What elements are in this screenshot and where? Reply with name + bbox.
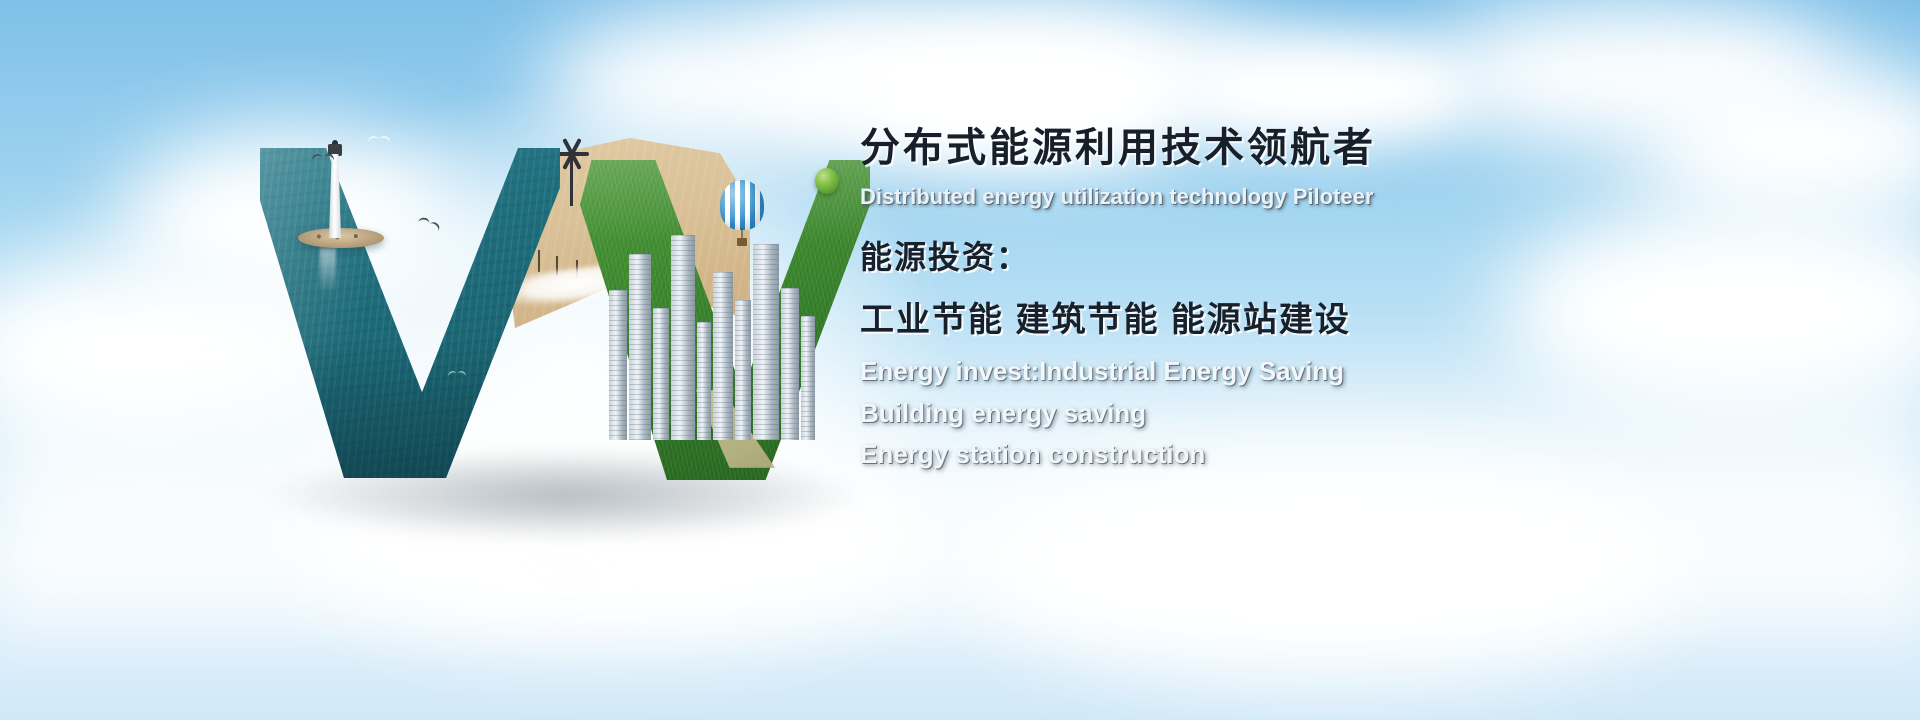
headline-chinese: 分布式能源利用技术领航者 [860, 126, 1760, 170]
building [753, 244, 779, 440]
seagull-icon [312, 154, 334, 164]
building [713, 272, 733, 440]
building [781, 288, 799, 440]
city-skyline [605, 210, 815, 440]
building [735, 300, 751, 440]
balloon-basket [737, 238, 747, 246]
services-english-line-3: Energy station construction [860, 436, 1760, 474]
services-chinese: 工业节能 建筑节能 能源站建设 [860, 292, 1760, 341]
building [629, 254, 651, 440]
cloud-puff [980, 460, 1680, 680]
seagull-icon [417, 216, 441, 234]
seagull-icon [434, 264, 464, 290]
hot-air-balloon-icon [720, 180, 764, 250]
lighthouse-tower [329, 154, 341, 238]
services-english-line-1: Energy invest:Industrial Energy Saving [860, 353, 1760, 391]
building [671, 235, 695, 440]
building [697, 322, 711, 440]
building [801, 316, 815, 440]
headline-english: Distributed energy utilization technolog… [860, 184, 1760, 210]
turbine-mast [570, 154, 573, 206]
lighthouse-reflection [320, 248, 336, 294]
services-english-line-2: Building energy saving [860, 395, 1760, 433]
seagull-icon [368, 136, 390, 146]
w-landscape-artwork [250, 120, 870, 520]
green-sphere [815, 168, 839, 194]
seagull-icon [448, 371, 466, 379]
building [609, 290, 627, 440]
section-title-chinese: 能源投资： [860, 232, 1760, 278]
marketing-copy: 分布式能源利用技术领航者 Distributed energy utilizat… [860, 126, 1760, 474]
balloon-envelope [720, 180, 764, 230]
hero-banner: 分布式能源利用技术领航者 Distributed energy utilizat… [0, 0, 1920, 720]
beach-post [538, 250, 540, 272]
building [653, 308, 669, 440]
